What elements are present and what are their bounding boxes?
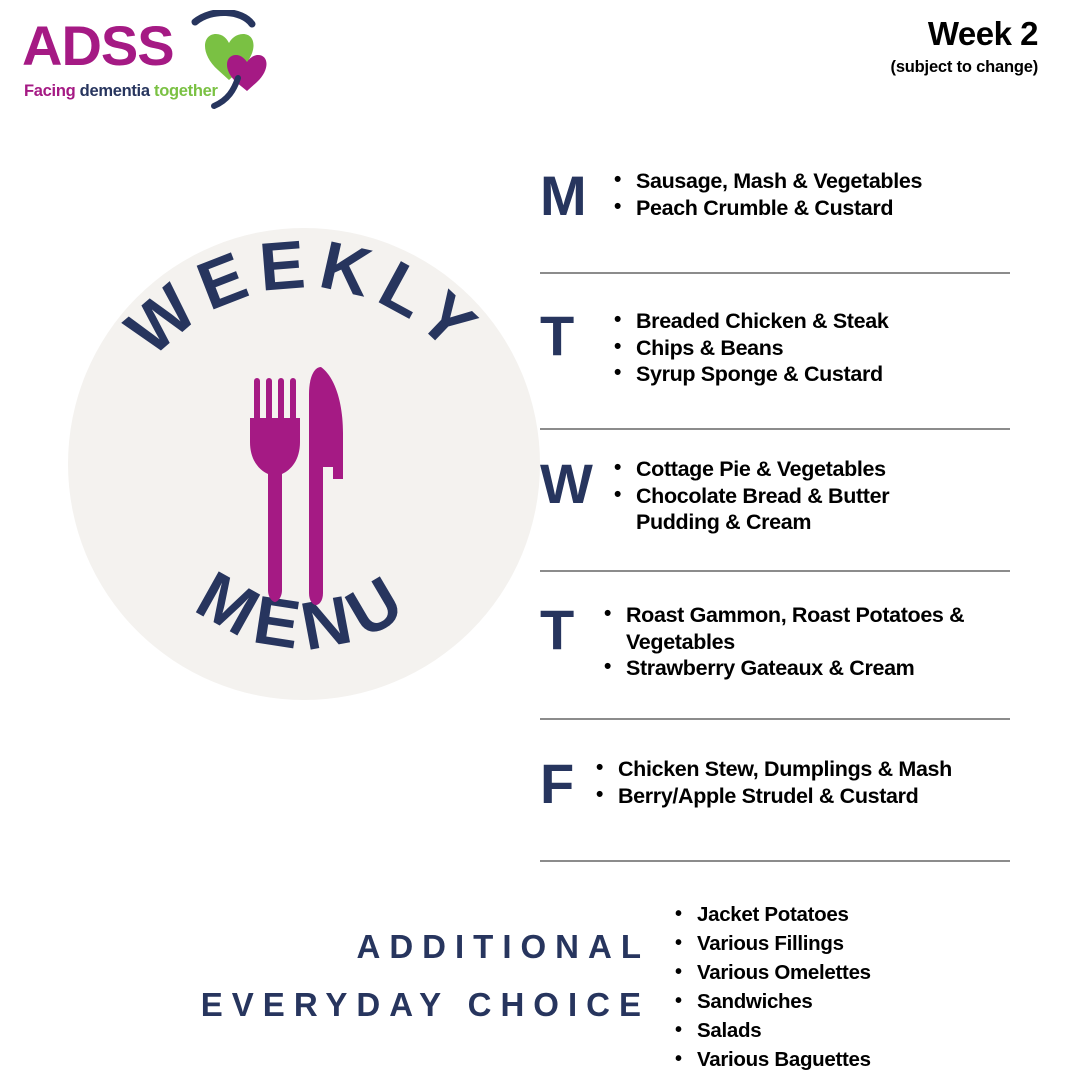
additional-item: Various Omelettes: [675, 961, 871, 986]
day-divider: [540, 428, 1010, 430]
additional-heading-line-1: ADDITIONAL: [120, 918, 650, 976]
menu-item: Roast Gammon, Roast Potatoes & Vegetable…: [604, 602, 974, 655]
day-letter-tuesday: T: [540, 308, 612, 362]
menu-item: Strawberry Gateaux & Cream: [604, 655, 974, 682]
day-items-monday: Sausage, Mash & Vegetables Peach Crumble…: [612, 168, 1015, 221]
additional-item: Salads: [675, 1019, 871, 1044]
menu-day-wednesday: W Cottage Pie & Vegetables Chocolate Bre…: [540, 456, 1015, 536]
menu-item: Berry/Apple Strudel & Custard: [596, 783, 1015, 810]
adss-wordmark: ADSS: [22, 18, 174, 74]
fork-icon: [250, 378, 300, 602]
additional-item: Various Fillings: [675, 932, 871, 957]
day-divider: [540, 272, 1010, 274]
menu-item: Chocolate Bread & Butter Pudding & Cream: [614, 483, 964, 536]
navy-arc-bottom-icon: [214, 78, 238, 106]
hearts-logo-mark: [190, 10, 270, 110]
knife-icon: [309, 367, 343, 605]
additional-item: Various Baguettes: [675, 1048, 871, 1073]
menu-day-friday: F Chicken Stew, Dumplings & Mash Berry/A…: [540, 756, 1015, 810]
menu-item: Chips & Beans: [614, 335, 1015, 362]
menu-day-monday: M Sausage, Mash & Vegetables Peach Crumb…: [540, 168, 1015, 222]
tagline-word-facing: Facing: [24, 82, 80, 100]
weekly-menu-badge: WEEKLY MENU: [68, 228, 540, 700]
menu-item: Sausage, Mash & Vegetables: [614, 168, 1015, 195]
additional-heading-line-2: EVERYDAY CHOICE: [120, 976, 650, 1034]
svg-text:WEEKLY: WEEKLY: [112, 228, 497, 370]
tagline-word-dementia: dementia: [80, 82, 154, 100]
day-letter-wednesday: W: [540, 456, 612, 510]
menu-item: Syrup Sponge & Custard: [614, 361, 1015, 388]
day-items-friday: Chicken Stew, Dumplings & Mash Berry/App…: [594, 756, 1015, 809]
badge-arc-top-label: WEEKLY: [112, 228, 497, 370]
day-divider: [540, 718, 1010, 720]
menu-day-tuesday: T Breaded Chicken & Steak Chips & Beans …: [540, 308, 1015, 388]
subject-to-change-note: (subject to change): [891, 58, 1038, 77]
menu-item: Peach Crumble & Custard: [614, 195, 1015, 222]
day-letter-monday: M: [540, 168, 612, 222]
menu-item: Chicken Stew, Dumplings & Mash: [596, 756, 1015, 783]
day-items-tuesday: Breaded Chicken & Steak Chips & Beans Sy…: [612, 308, 1015, 388]
week-title: Week 2: [891, 16, 1038, 52]
adss-logo: ADSS Facing dementia together: [22, 8, 262, 108]
svg-text:MENU: MENU: [185, 557, 424, 665]
additional-item: Sandwiches: [675, 990, 871, 1015]
menu-item: Breaded Chicken & Steak: [614, 308, 1015, 335]
header-week-block: Week 2 (subject to change): [891, 16, 1038, 77]
menu-item: Cottage Pie & Vegetables: [614, 456, 964, 483]
day-items-thursday: Roast Gammon, Roast Potatoes & Vegetable…: [602, 602, 974, 682]
adss-tagline: Facing dementia together: [24, 82, 218, 101]
additional-choice-list: Jacket Potatoes Various Fillings Various…: [675, 903, 871, 1078]
additional-item: Jacket Potatoes: [675, 903, 871, 928]
day-items-wednesday: Cottage Pie & Vegetables Chocolate Bread…: [612, 456, 964, 536]
day-divider: [540, 570, 1010, 572]
day-divider: [540, 860, 1010, 862]
badge-arc-bottom-label: MENU: [185, 557, 424, 665]
additional-choice-heading: ADDITIONAL EVERYDAY CHOICE: [120, 918, 650, 1034]
badge-artwork: WEEKLY MENU: [68, 228, 540, 700]
navy-arc-top-icon: [195, 12, 252, 24]
menu-day-thursday: T Roast Gammon, Roast Potatoes & Vegetab…: [540, 602, 1015, 682]
